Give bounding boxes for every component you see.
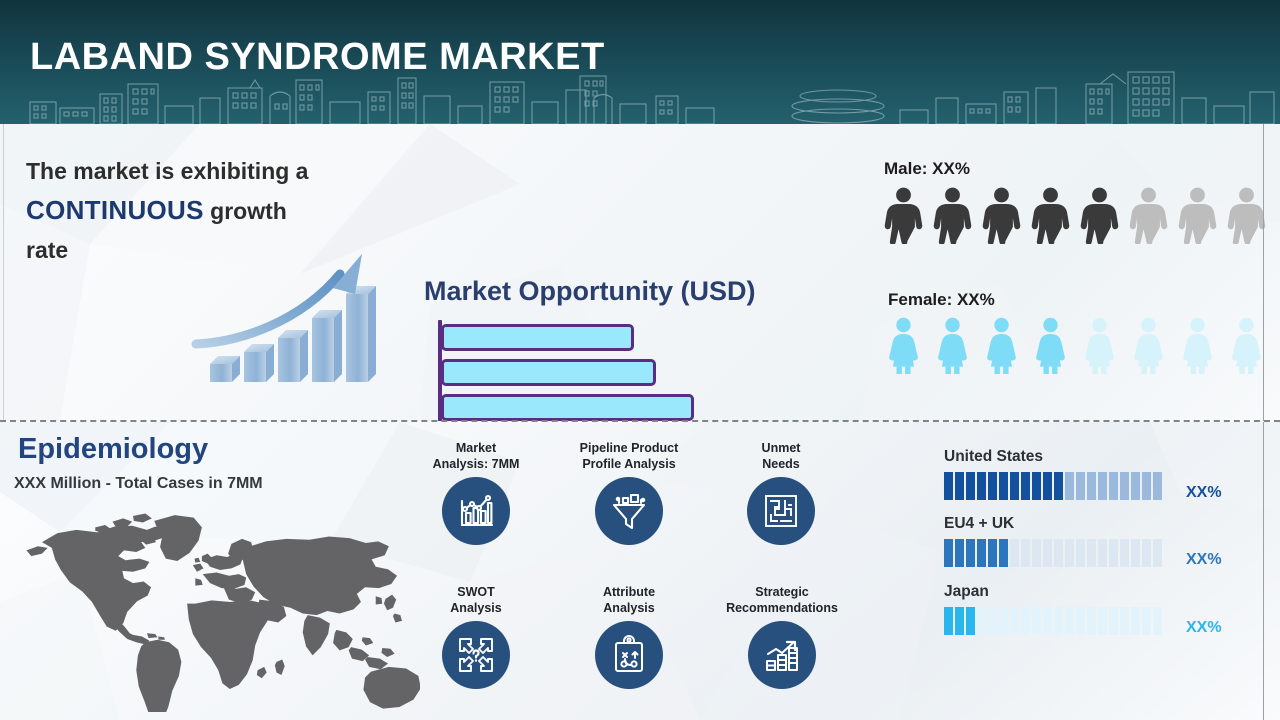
- service-label-5: StrategicRecommendations: [712, 584, 852, 616]
- lead-line-2: growth: [204, 198, 287, 224]
- middle-left-border: [3, 124, 4, 421]
- lower-right-border: [1263, 422, 1264, 720]
- female-person-icon: [879, 316, 928, 374]
- meter-segment: [1054, 607, 1063, 635]
- meter-segment: [966, 472, 975, 500]
- growth-arrow-bar-chart-icon: [190, 244, 400, 384]
- funnel-filter-icon: [595, 477, 663, 545]
- meter-segment: [1021, 607, 1030, 635]
- meter-segment: [1131, 539, 1140, 567]
- meter-segment: [1076, 472, 1085, 500]
- meter-segment: [955, 472, 964, 500]
- meter-segment: [999, 472, 1008, 500]
- service-unmet-needs[interactable]: UnmetNeeds: [727, 440, 835, 545]
- meter-segment: [1153, 607, 1162, 635]
- lead-highlight: CONTINUOUS: [26, 195, 204, 225]
- epidemiology-subtitle: XXX Million - Total Cases in 7MM: [14, 475, 263, 493]
- middle-right-border: [1263, 124, 1264, 421]
- meter-segment: [977, 607, 986, 635]
- male-person-icon: [1075, 186, 1124, 244]
- country-percent-1: XX%: [1186, 551, 1222, 569]
- meter-segment: [1065, 607, 1074, 635]
- chart-analytics-icon: [442, 477, 510, 545]
- meter-segment: [944, 472, 953, 500]
- country-united-states: United States: [944, 448, 1162, 500]
- meter-segment: [1021, 472, 1030, 500]
- world-map-icon: [10, 497, 420, 712]
- meter-segment: [1043, 472, 1052, 500]
- meter-segment: [1021, 539, 1030, 567]
- country-eu4-uk: EU4 + UK: [944, 515, 1162, 567]
- meter-segment: [944, 607, 953, 635]
- page-title: LABAND SYNDROME MARKET: [30, 36, 605, 79]
- meter-segment: [1109, 607, 1118, 635]
- header-banner: LABAND SYNDROME MARKET: [0, 0, 1280, 124]
- meter-segment: [1043, 539, 1052, 567]
- country-name-2: Japan: [944, 583, 1162, 601]
- bar-3: [441, 394, 694, 421]
- meter-segment: [1087, 472, 1096, 500]
- meter-segment: [966, 539, 975, 567]
- middle-section: The market is exhibiting a CONTINUOUS gr…: [0, 124, 1280, 421]
- meter-segment: [1120, 472, 1129, 500]
- female-person-icon: [928, 316, 977, 374]
- meter-segment: [1109, 472, 1118, 500]
- meter-segment: [1131, 607, 1140, 635]
- meter-segment: [1054, 539, 1063, 567]
- meter-segment: [944, 539, 953, 567]
- country-percent-2: XX%: [1186, 619, 1222, 637]
- service-label-2: UnmetNeeds: [727, 440, 835, 472]
- service-label-0: MarketAnalysis: 7MM: [421, 440, 531, 472]
- meter-segment: [1010, 472, 1019, 500]
- male-pictogram-row: [879, 186, 1271, 244]
- male-person-icon: [1026, 186, 1075, 244]
- meter-segment: [1032, 607, 1041, 635]
- meter-segment: [999, 539, 1008, 567]
- meter-segment: [955, 539, 964, 567]
- female-label: Female: XX%: [888, 290, 995, 310]
- male-person-icon: [1124, 186, 1173, 244]
- infographic-canvas: LABAND SYNDROME MARKET The market is exh…: [0, 0, 1280, 720]
- meter-segment: [1043, 607, 1052, 635]
- country-percent-0: XX%: [1186, 484, 1222, 502]
- male-label: Male: XX%: [884, 159, 970, 179]
- male-person-icon: [977, 186, 1026, 244]
- service-strategic-recommendations[interactable]: StrategicRecommendations: [712, 584, 852, 689]
- meter-segment: [1054, 472, 1063, 500]
- meter-segment: [1065, 472, 1074, 500]
- male-person-icon: [879, 186, 928, 244]
- lead-line-3: rate: [26, 237, 68, 263]
- lower-section: Epidemiology XXX Million - Total Cases i…: [0, 422, 1280, 720]
- meter-segment: [1142, 607, 1151, 635]
- female-person-icon: [1124, 316, 1173, 374]
- meter-segment: [1076, 607, 1085, 635]
- meter-segment: [1076, 539, 1085, 567]
- meter-segment: [977, 472, 986, 500]
- service-attribute-analysis[interactable]: AttributeAnalysis: [578, 584, 680, 689]
- meter-segment: [999, 607, 1008, 635]
- country-name-1: EU4 + UK: [944, 515, 1162, 533]
- female-person-icon: [1075, 316, 1124, 374]
- market-opportunity-chart: [438, 320, 838, 421]
- meter-segment: [1087, 539, 1096, 567]
- service-label-1: Pipeline ProductProfile Analysis: [553, 440, 705, 472]
- meter-segment: [977, 539, 986, 567]
- service-label-4: AttributeAnalysis: [578, 584, 680, 616]
- country-meter-0: [944, 472, 1162, 500]
- meter-segment: [1131, 472, 1140, 500]
- meter-segment: [988, 472, 997, 500]
- country-japan: Japan: [944, 583, 1162, 635]
- service-swot-analysis[interactable]: SWOTAnalysis: [428, 584, 524, 689]
- meter-segment: [1120, 607, 1129, 635]
- meter-segment: [1153, 472, 1162, 500]
- meter-segment: [1032, 539, 1041, 567]
- meter-segment: [1142, 539, 1151, 567]
- country-name-0: United States: [944, 448, 1162, 466]
- meter-segment: [1153, 539, 1162, 567]
- swot-arrows-question-icon: [442, 621, 510, 689]
- female-person-icon: [1026, 316, 1075, 374]
- male-person-icon: [928, 186, 977, 244]
- meter-segment: [1032, 472, 1041, 500]
- service-market-analysis[interactable]: MarketAnalysis: 7MM: [421, 440, 531, 545]
- country-meter-1: [944, 539, 1162, 567]
- meter-segment: [1087, 607, 1096, 635]
- female-pictogram-row: [879, 316, 1271, 374]
- epidemiology-title: Epidemiology: [18, 433, 208, 466]
- meter-segment: [1065, 539, 1074, 567]
- growth-bars-arrow-icon: [748, 621, 816, 689]
- country-meter-2: [944, 607, 1162, 635]
- meter-segment: [988, 539, 997, 567]
- meter-segment: [1098, 472, 1107, 500]
- meter-segment: [1098, 607, 1107, 635]
- meter-segment: [988, 607, 997, 635]
- male-person-icon: [1173, 186, 1222, 244]
- chart-title: Market Opportunity (USD): [424, 276, 756, 307]
- maze-icon: [747, 477, 815, 545]
- lead-line-1: The market is exhibiting a: [26, 158, 308, 184]
- bar-2: [441, 359, 656, 386]
- service-label-3: SWOTAnalysis: [428, 584, 524, 616]
- bar-1: [441, 324, 634, 351]
- female-person-icon: [977, 316, 1026, 374]
- meter-segment: [1098, 539, 1107, 567]
- meter-segment: [1010, 539, 1019, 567]
- female-person-icon: [1173, 316, 1222, 374]
- clipboard-strategy-icon: [595, 621, 663, 689]
- meter-segment: [1109, 539, 1118, 567]
- meter-segment: [955, 607, 964, 635]
- meter-segment: [966, 607, 975, 635]
- meter-segment: [1142, 472, 1151, 500]
- service-pipeline-product-profile[interactable]: Pipeline ProductProfile Analysis: [553, 440, 705, 545]
- meter-segment: [1120, 539, 1129, 567]
- meter-segment: [1010, 607, 1019, 635]
